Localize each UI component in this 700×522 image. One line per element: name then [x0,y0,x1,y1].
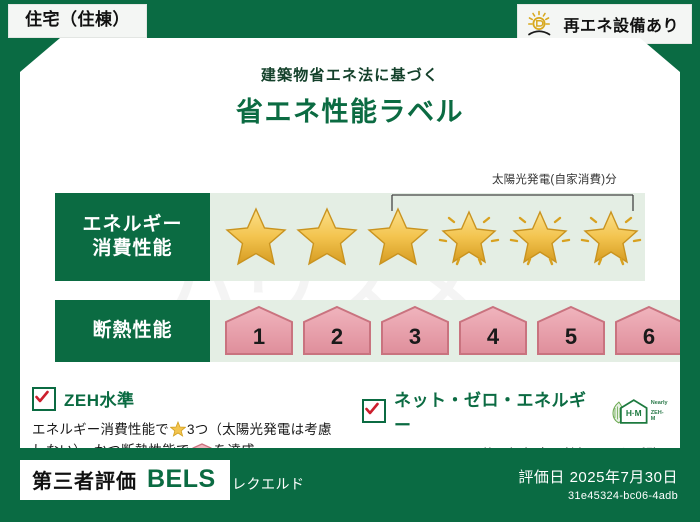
insulation-grade-7: 7 [690,305,700,357]
energy-performance-label: 住宅（住棟） 再エネ設備あり 建築物省エネ [0,0,700,522]
zeh-logo-caption-1: Nearly [651,400,668,406]
insulation-grade-3-value: 3 [378,305,452,357]
insulation-grade-6-value: 6 [612,305,686,357]
solar-bracket-label: 太陽光発電(自家消費)分 [492,171,617,187]
card-title-block: 建築物省エネ法に基づく 省エネ性能ラベル [20,64,680,129]
star-2 [293,202,361,272]
insulation-rating-area: 1 2 3 4 5 [210,300,700,362]
insulation-grade-6: 6 [612,305,686,357]
renewable-badge-label: 再エネ設備あり [563,12,679,36]
zeh-heading-row: ZEH水準 [32,386,338,411]
star-1 [222,202,290,272]
insulation-grade-4: 4 [456,305,530,357]
bels-scheme-label: BELS [147,465,216,494]
zeh-heading: ZEH水準 [64,386,135,411]
insulation-grade-7-value: 7 [690,305,700,357]
star-6-solar [577,202,645,272]
insulation-grade-5: 5 [534,305,608,357]
insulation-grade-1: 1 [222,305,296,357]
star-3 [364,202,432,272]
inline-star-icon [170,421,186,437]
zeh-logo-caption-2: ZEH-M [651,410,668,422]
insulation-grade-5-value: 5 [534,305,608,357]
energy-rating-area: 太陽光発電(自家消費)分 [210,193,645,281]
zeh-desc-part1: エネルギー消費性能で [32,422,169,437]
insulation-grade-4-value: 4 [456,305,530,357]
energy-performance-label: エネルギー 消費性能 [55,193,210,281]
insulation-performance-label: 断熱性能 [55,300,210,362]
insulation-grade-3: 3 [378,305,452,357]
document-id: 31e45324-bc06-4adb [518,490,678,502]
star-5-solar [506,202,574,272]
label-footer: 第三者評価 BELS レクエルド 評価日 2025年7月30日 31e45324… [0,448,700,522]
building-type-tag: 住宅（住棟） [8,4,147,38]
bels-certification-box: 第三者評価 BELS [20,460,230,500]
energy-label-line2: 消費性能 [92,237,172,261]
zeh-house-icon: H·M [610,396,650,426]
page-title: 省エネ性能ラベル [20,90,680,129]
nze-heading-row: ネット・ゼロ・エネルギー H·M Nearly ZEH-M [362,386,668,436]
label-card: 建築物省エネ法に基づく 省エネ性能ラベル ハウスメ エネルギー 消費性能 [20,38,680,448]
solar-sun-icon [526,10,556,38]
nearly-zeh-m-logo: H·M Nearly ZEH-M [610,396,668,426]
insulation-grade-2: 2 [300,305,374,357]
third-party-evaluation-label: 第三者評価 [32,465,137,494]
insulation-grade-scale: 1 2 3 4 5 [210,305,700,357]
star-rating [210,202,645,272]
nze-checkbox [362,399,386,423]
zeh-checkbox [32,387,56,411]
insulation-grade-2-value: 2 [300,305,374,357]
energy-label-line1: エネルギー [82,213,182,237]
brand-name: レクエルド [232,474,305,494]
evaluation-date: 評価日 2025年7月30日 [518,466,678,487]
svg-text:H·M: H·M [626,408,642,418]
energy-performance-row: エネルギー 消費性能 [55,193,645,281]
footer-meta: 評価日 2025年7月30日 31e45324-bc06-4adb [518,466,678,502]
insulation-grade-1-value: 1 [222,305,296,357]
nze-heading: ネット・ゼロ・エネルギー [394,386,599,436]
insulation-performance-row: 断熱性能 1 2 3 [55,300,645,362]
star-4-solar [435,202,503,272]
card-subtitle: 建築物省エネ法に基づく [20,64,680,85]
